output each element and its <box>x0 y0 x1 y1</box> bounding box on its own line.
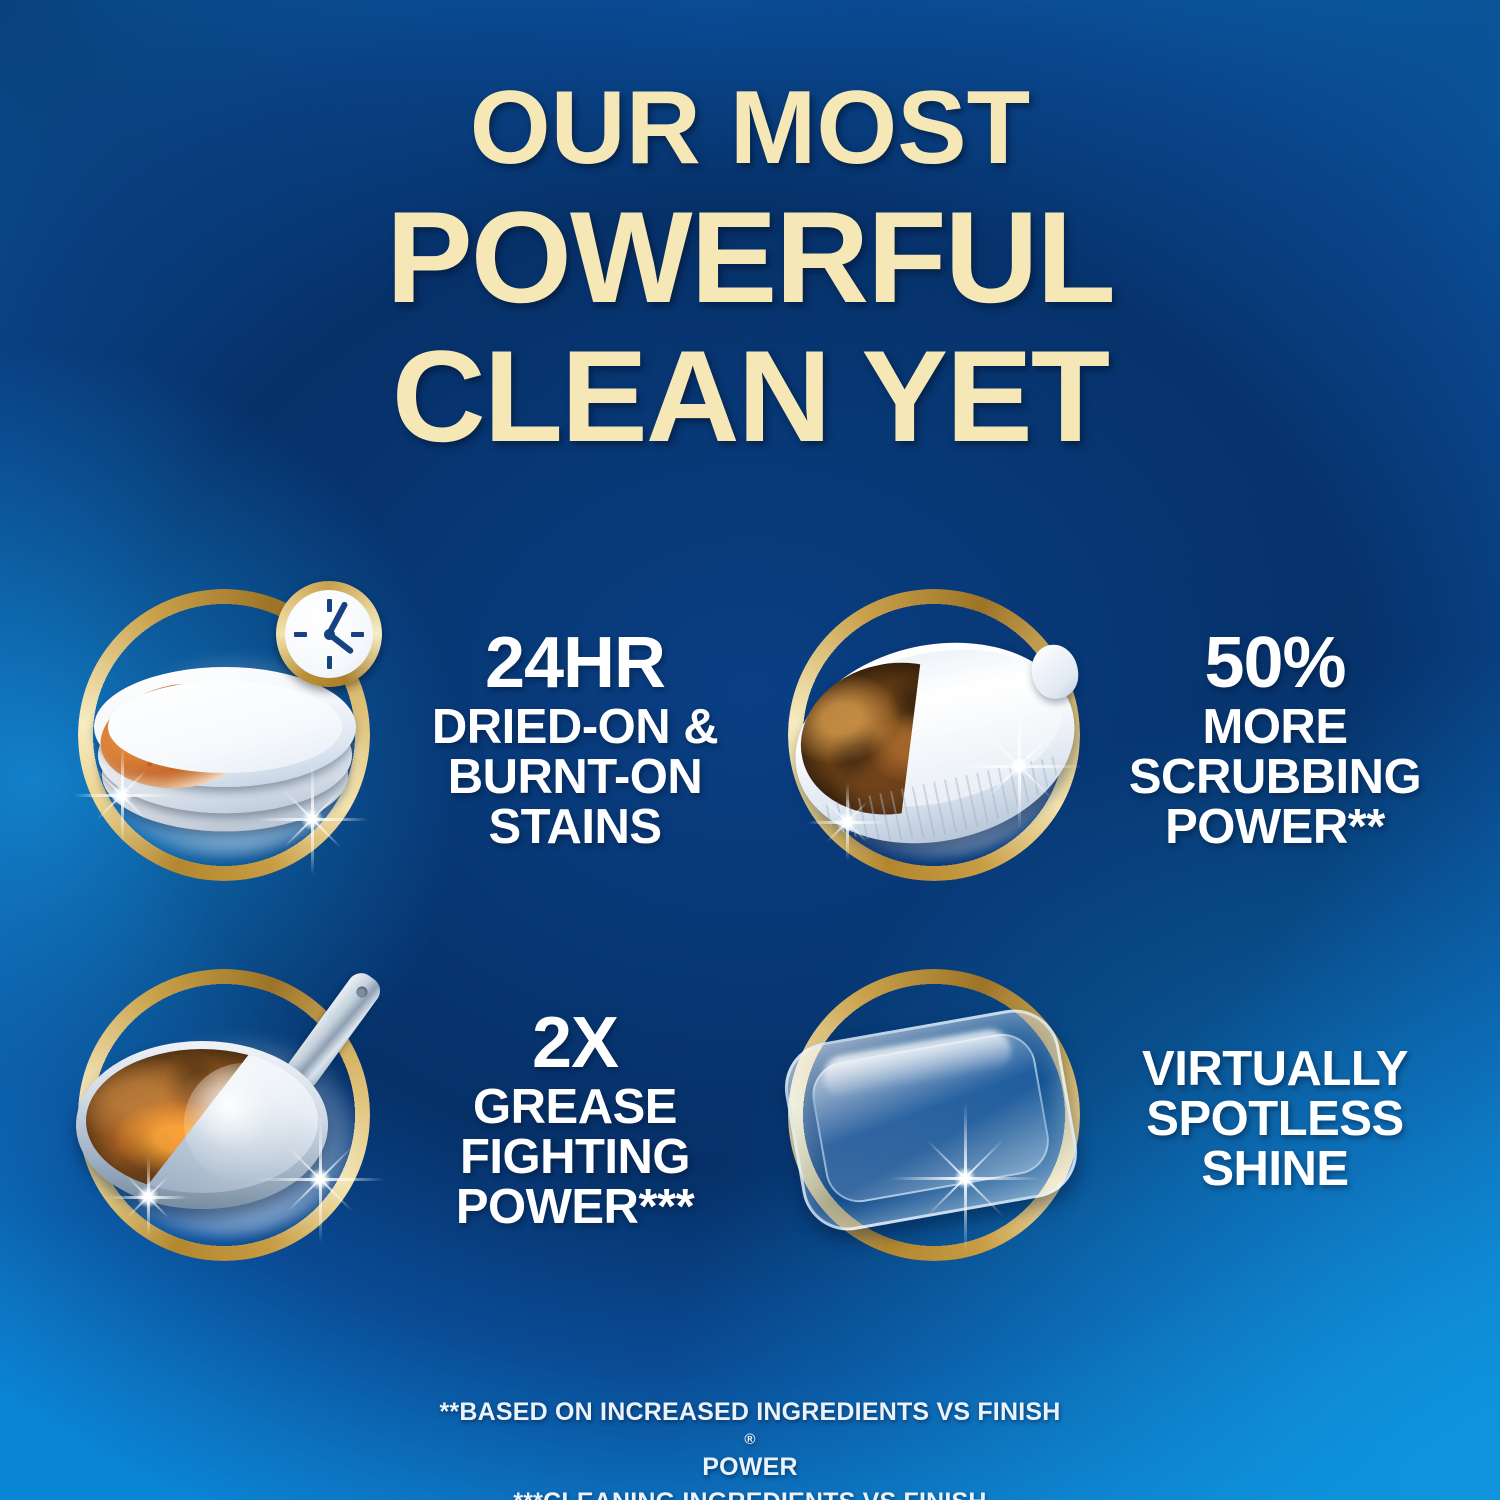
headline-line-3: CLEAN YET <box>0 333 1500 460</box>
feature-card-scrubbing-power: 50% MORE SCRUBBING POWER** <box>750 560 1440 920</box>
headline-line-2: POWERFUL <box>0 194 1500 321</box>
feature-copy: 24HR DRIED-ON & BURNT-ON STAINS <box>390 627 750 853</box>
clock-tick-9 <box>294 632 307 637</box>
feature-headline-value: 2X <box>400 1007 750 1079</box>
clear-glass-dish-icon <box>770 955 1100 1285</box>
footnote-line-2: ***CLEANING INGREDIENTS VS FINISH® POWER <box>0 1485 1500 1500</box>
feature-copy: VIRTUALLY SPOTLESS SHINE <box>1100 1045 1440 1195</box>
clock-face <box>285 590 373 678</box>
feature-description: MORE SCRUBBING POWER** <box>1110 703 1440 853</box>
clock-center-pin <box>324 629 335 640</box>
burnt-baking-dish-icon <box>770 575 1100 905</box>
clock-icon <box>276 581 382 687</box>
feature-grid: 24HR DRIED-ON & BURNT-ON STAINS <box>60 560 1440 1280</box>
footnotes: **BASED ON INCREASED INGREDIENTS VS FINI… <box>0 1395 1500 1500</box>
feature-copy: 2X GREASE FIGHTING POWER*** <box>390 1007 750 1233</box>
feature-card-spotless-shine: VIRTUALLY SPOTLESS SHINE <box>750 940 1440 1300</box>
headline-line-1: OUR MOST <box>0 78 1500 180</box>
greasy-frying-pan-icon <box>60 955 390 1285</box>
clock-tick-3 <box>351 632 364 637</box>
feature-card-grease-fighting-power: 2X GREASE FIGHTING POWER*** <box>60 940 750 1300</box>
frying-pan-illustration <box>76 1019 344 1225</box>
stacked-plates-with-clock-icon <box>60 575 390 905</box>
clock-tick-12 <box>327 599 332 612</box>
feature-description: GREASE FIGHTING POWER*** <box>400 1083 750 1233</box>
footnote-1-suffix: POWER <box>0 1450 1500 1485</box>
feature-headline-value: 50% <box>1110 627 1440 699</box>
registered-mark-icon: ® <box>0 1430 1500 1451</box>
page-title: OUR MOST POWERFUL CLEAN YET <box>0 78 1500 461</box>
product-feature-banner: OUR MOST POWERFUL CLEAN YET <box>0 0 1500 1500</box>
pan-shine <box>184 1063 304 1183</box>
clock-tick-6 <box>327 656 332 669</box>
feature-description: VIRTUALLY SPOTLESS SHINE <box>1110 1045 1440 1195</box>
footnote-1-text: **BASED ON INCREASED INGREDIENTS VS FINI… <box>0 1395 1500 1430</box>
feature-description: DRIED-ON & BURNT-ON STAINS <box>400 703 750 853</box>
feature-headline-value: 24HR <box>400 627 750 699</box>
footnote-2-text: ***CLEANING INGREDIENTS VS FINISH <box>0 1485 1500 1500</box>
feature-copy: 50% MORE SCRUBBING POWER** <box>1100 627 1440 853</box>
footnote-line-1: **BASED ON INCREASED INGREDIENTS VS FINI… <box>0 1395 1500 1485</box>
feature-card-dried-burnt-stains: 24HR DRIED-ON & BURNT-ON STAINS <box>60 560 750 920</box>
